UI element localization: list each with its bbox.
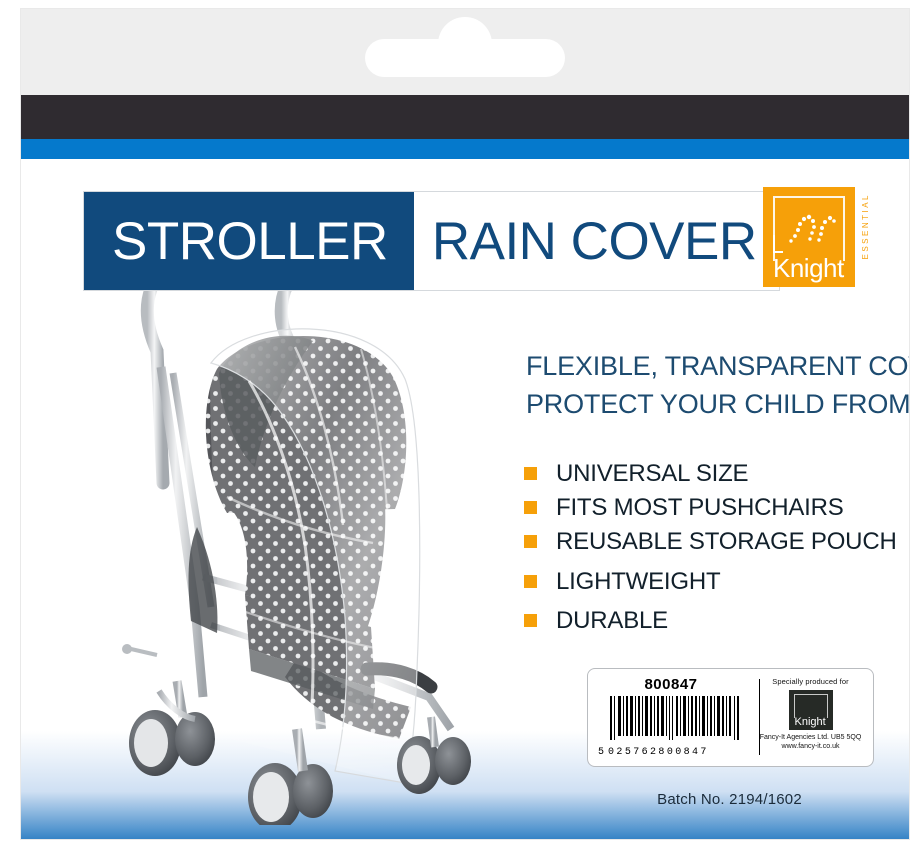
title-secondary-block: RAIN COVER (414, 192, 779, 290)
blue-accent-band (21, 139, 909, 159)
list-item: LIGHTWEIGHT (524, 569, 910, 594)
brand-logo-box: Knight (763, 187, 855, 287)
barcode-bars (610, 696, 742, 740)
barcode-group-left: 025762 (608, 747, 658, 758)
bullet-square-icon (524, 535, 537, 548)
headline-line-1: FLEXIBLE, TRANSPARENT COVER T (526, 347, 910, 385)
title-secondary-text: RAIN COVER (432, 215, 757, 268)
feature-label: REUSABLE STORAGE POUCH (556, 529, 897, 554)
feature-label: FITS MOST PUSHCHAIRS (556, 495, 844, 520)
barcode-digits: 5 025762 800847 (598, 747, 748, 758)
producer-logo: Knight (789, 690, 833, 730)
barcode-lead-digit: 5 (598, 747, 604, 758)
list-item: UNIVERSAL SIZE (524, 461, 910, 486)
marketing-headline: FLEXIBLE, TRANSPARENT COVER T PROTECT YO… (526, 347, 910, 424)
bullet-square-icon (524, 614, 537, 627)
title-primary-block: STROLLER (84, 192, 414, 290)
batch-number: Batch No. 2194/1602 (587, 791, 872, 808)
package-header-strip (21, 9, 909, 95)
brand-name-text: Knight (773, 253, 844, 283)
brand-logo: Knight ESSENTIAL (763, 187, 883, 295)
company-website: www.fancy-it.co.uk (748, 742, 873, 751)
dark-accent-band (21, 95, 909, 139)
produced-for-caption: Specially produced for (748, 677, 873, 686)
barcode-section: 800847 (588, 669, 748, 766)
brand-name-lockup: Knight (773, 229, 855, 281)
label-divider (759, 679, 760, 755)
feature-label: DURABLE (556, 608, 668, 633)
product-title: STROLLER RAIN COVER (83, 191, 780, 291)
stroller-product-illustration (99, 277, 509, 825)
producer-section: Specially produced for Knight Fancy-It A… (748, 669, 873, 766)
brand-corner-bracket-icon (773, 235, 783, 253)
feature-list: UNIVERSAL SIZE FITS MOST PUSHCHAIRS REUS… (524, 461, 910, 642)
barcode-label: 800847 (587, 668, 874, 767)
company-name: Fancy-It Agencies Ltd. UB5 5QQ (748, 733, 873, 742)
bullet-square-icon (524, 467, 537, 480)
list-item: REUSABLE STORAGE POUCH (524, 529, 910, 554)
list-item: FITS MOST PUSHCHAIRS (524, 495, 910, 520)
bullet-square-icon (524, 501, 537, 514)
packaging-photo: STROLLER RAIN COVER (0, 0, 923, 854)
product-package-card: STROLLER RAIN COVER (20, 8, 910, 840)
producer-logo-name: Knight (795, 717, 826, 728)
brand-tagline: ESSENTIAL (861, 193, 870, 260)
feature-label: LIGHTWEIGHT (556, 569, 720, 594)
producer-logo-frame (794, 694, 828, 718)
title-primary-text: STROLLER (112, 215, 388, 268)
bullet-square-icon (524, 575, 537, 588)
feature-label: UNIVERSAL SIZE (556, 461, 748, 486)
headline-line-2: PROTECT YOUR CHILD FROM RAI (526, 385, 910, 423)
barcode-group-right: 800847 (658, 747, 708, 758)
euro-slot-hang-hole (365, 39, 565, 77)
product-code: 800847 (594, 676, 748, 693)
list-item: DURABLE (524, 608, 910, 633)
